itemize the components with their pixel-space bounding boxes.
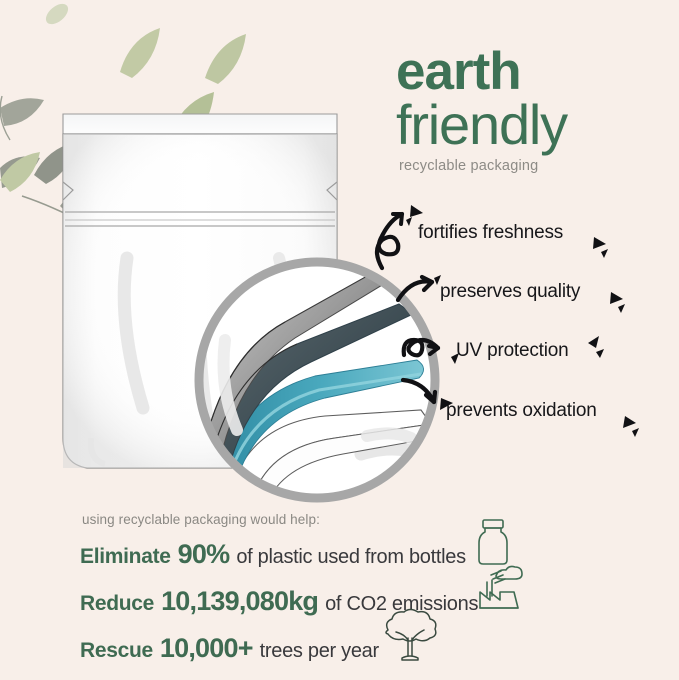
stat-verb: Reduce — [80, 592, 154, 616]
stat-number: 10,139,080kg — [161, 586, 318, 617]
feature-label-uv-protection: UV protection — [456, 340, 569, 362]
stat-verb: Rescue — [80, 639, 153, 663]
headline-line-2: friendly — [396, 97, 666, 153]
feature-label-preserves-quality: preserves quality — [440, 281, 580, 303]
stats-intro: using recyclable packaging would help: — [82, 512, 600, 527]
bottle-icon — [470, 517, 516, 567]
factory-icon — [470, 562, 526, 610]
feature-label-fortifies-freshness: fortifies freshness — [418, 222, 563, 244]
stat-description: of plastic used from bottles — [236, 546, 466, 569]
magnifier-circle-illustration — [185, 248, 450, 513]
headline-subtitle: recyclable packaging — [399, 158, 666, 174]
stat-description: trees per year — [260, 640, 379, 663]
tree-icon — [378, 608, 442, 664]
headline-line-1: earth — [396, 46, 666, 97]
feature-label-prevents-oxidation: prevents oxidation — [446, 400, 597, 422]
stat-number: 90% — [178, 539, 230, 570]
stat-verb: Eliminate — [80, 545, 171, 569]
stat-number: 10,000+ — [160, 633, 253, 664]
headline-block: earth friendly recyclable packaging — [396, 46, 666, 174]
infographic-canvas: earth friendly recyclable packaging — [0, 0, 679, 679]
stat-row: Rescue 10,000+ trees per year — [80, 633, 600, 664]
